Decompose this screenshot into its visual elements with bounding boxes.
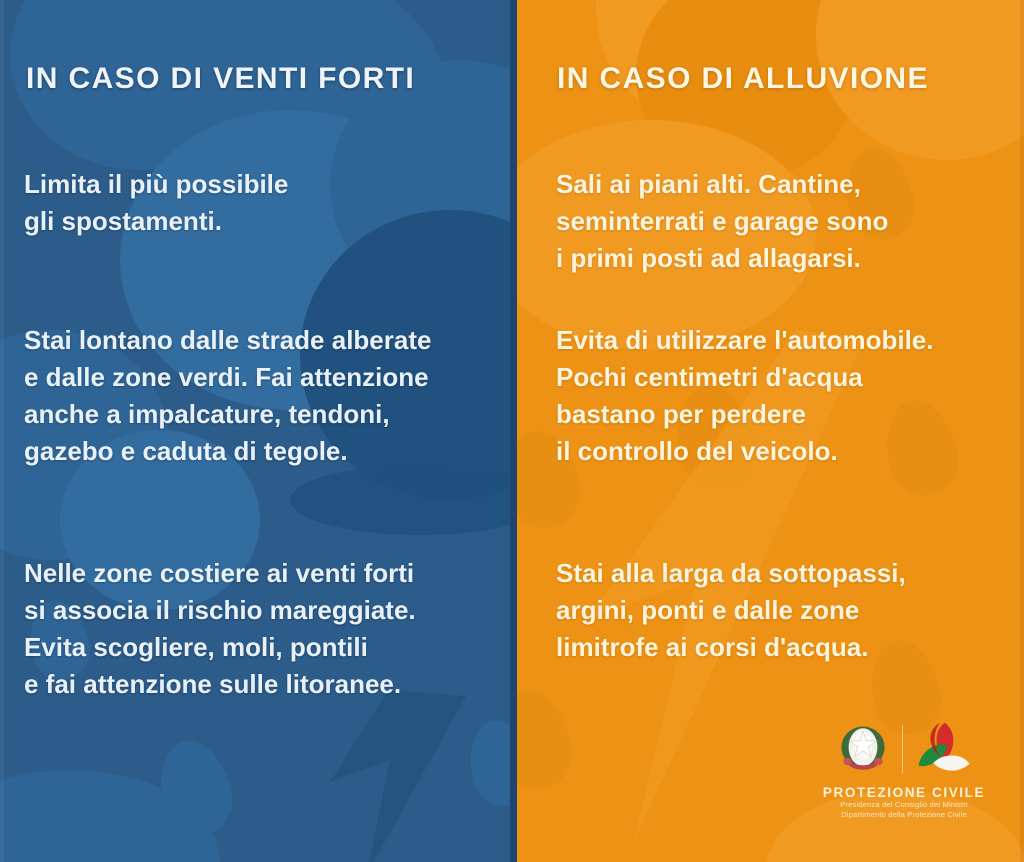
logo-divider (902, 725, 903, 773)
advice-line: Limita il più possibile (24, 166, 288, 203)
advice-line: argini, ponti e dalle zone (556, 592, 906, 629)
advice-line: gazebo e caduta di tegole. (24, 433, 431, 470)
advice-line: Pochi centimetri d'acqua (556, 359, 933, 396)
advice-line: si associa il rischio mareggiate. (24, 592, 416, 629)
protezione-civile-logo: PROTEZIONE CIVILE Presidenza del Consigl… (812, 718, 996, 820)
advice-line: il controllo del veicolo. (556, 433, 933, 470)
advice-line: bastano per perdere (556, 396, 933, 433)
logo-name: PROTEZIONE CIVILE (812, 785, 996, 800)
advice-line: anche a impalcature, tendoni, (24, 396, 431, 433)
advice-line: e fai attenzione sulle litoranee. (24, 666, 416, 703)
wind-advice-block: Stai lontano dalle strade alberate e dal… (24, 322, 431, 470)
flood-column-title: IN CASO DI ALLUVIONE (557, 62, 929, 96)
advice-line: Evita scogliere, moli, pontili (24, 629, 416, 666)
protezione-civile-triskelion-icon (915, 721, 973, 777)
advice-line: seminterrati e garage sono (556, 203, 888, 240)
advice-line: Evita di utilizzare l'automobile. (556, 322, 933, 359)
advice-line: gli spostamenti. (24, 203, 288, 240)
flood-advice-block: Evita di utilizzare l'automobile. Pochi … (556, 322, 933, 470)
poster-root: IN CASO DI VENTI FORTI Limita il più pos… (0, 0, 1024, 862)
wind-advice-block: Nelle zone costiere ai venti forti si as… (24, 555, 416, 703)
advice-line: Nelle zone costiere ai venti forti (24, 555, 416, 592)
advice-line: e dalle zone verdi. Fai attenzione (24, 359, 431, 396)
wind-advice-block: Limita il più possibile gli spostamenti. (24, 166, 288, 240)
logo-subtitle-line-2: Dipartimento della Protezione Civile (812, 810, 996, 820)
advice-line: i primi posti ad allagarsi. (556, 240, 888, 277)
wind-panel: IN CASO DI VENTI FORTI Limita il più pos… (0, 0, 516, 862)
logo-subtitle-line-1: Presidenza del Consiglio dei Ministri (812, 800, 996, 810)
flood-advice-block: Stai alla larga da sottopassi, argini, p… (556, 555, 906, 666)
wind-column-title: IN CASO DI VENTI FORTI (26, 62, 415, 96)
flood-advice-block: Sali ai piani alti. Cantine, seminterrat… (556, 166, 888, 277)
italian-republic-emblem-icon (836, 722, 890, 776)
advice-line: Stai alla larga da sottopassi, (556, 555, 906, 592)
advice-line: Stai lontano dalle strade alberate (24, 322, 431, 359)
advice-line: Sali ai piani alti. Cantine, (556, 166, 888, 203)
advice-line: limitrofe ai corsi d'acqua. (556, 629, 906, 666)
